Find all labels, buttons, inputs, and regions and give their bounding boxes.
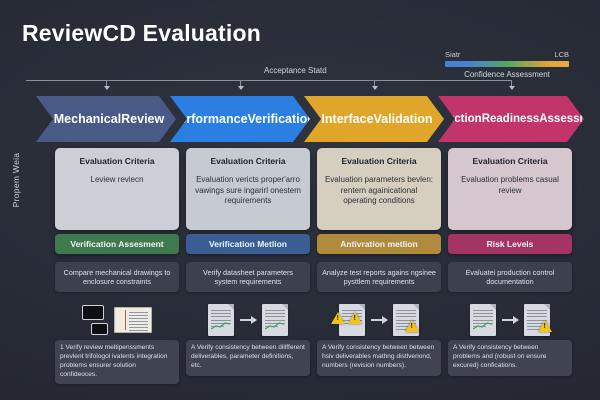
warning-triangle-icon xyxy=(331,312,345,324)
criteria-card-1-header: Evaluation Criteria xyxy=(62,156,172,166)
connector-tick-4 xyxy=(511,80,512,89)
stage-chevron-2-line2: Verification xyxy=(248,112,315,126)
arrow-right-icon xyxy=(502,319,518,321)
arrow-right-icon xyxy=(371,319,387,321)
connector-tick-2 xyxy=(240,80,241,89)
document-chart-icon xyxy=(262,304,288,336)
panel-1-icons xyxy=(55,298,179,342)
page-title: ReviewCD Evaluation xyxy=(22,20,261,47)
slide-canvas: ReviewCD Evaluation Propem Weia Siatr LC… xyxy=(0,0,600,400)
stage-chevron-1[interactable]: MechanicalReview xyxy=(36,96,176,142)
vertical-axis-label: Propem Weia xyxy=(11,150,21,210)
description-box-1: Compare mechanical drawings to enclosure… xyxy=(55,262,179,292)
connector-line xyxy=(26,80,511,81)
stage-chevron-2-line1: Performance xyxy=(171,112,247,126)
warning-triangle-icon xyxy=(405,320,419,332)
criteria-card-4[interactable]: Evaluation CriteriaEvaluation problems c… xyxy=(448,148,572,230)
confidence-legend: Siatr LCB Confidence Assessment xyxy=(445,50,569,79)
legend-gradient-bar xyxy=(445,61,569,67)
criteria-card-1-body: Leview reviecn xyxy=(62,175,172,186)
criteria-card-2[interactable]: Evaluation CriteriaEvaluation vericts pr… xyxy=(186,148,310,230)
description-box-3: Analyze test reports agains ngsinee pyst… xyxy=(317,262,441,292)
section-pill-4[interactable]: Risk Levels xyxy=(448,234,572,254)
illustration-panel-2: A Verify consistency between dillfferent… xyxy=(186,298,310,382)
criteria-card-3-body: Evaluation parameters bevlen: rentern ag… xyxy=(324,175,434,207)
legend-caption: Confidence Assessment xyxy=(445,70,569,79)
criteria-card-3-header: Evaluation Criteria xyxy=(324,156,434,166)
section-pill-3[interactable]: Antivration metlion xyxy=(317,234,441,254)
illustration-panel-4: A Verify consistency between problems an… xyxy=(448,298,572,382)
stage-chevron-3-line1: Interface xyxy=(321,112,373,126)
description-box-4: Evaluatei production control documentati… xyxy=(448,262,572,292)
warned-document-group xyxy=(393,304,419,336)
arrow-right-icon xyxy=(240,319,256,321)
document-icon xyxy=(470,304,496,336)
section-pill-2[interactable]: Verification Metlion xyxy=(186,234,310,254)
warning-triangle-icon xyxy=(538,320,552,332)
panel-2-icons xyxy=(186,298,310,342)
panel-4-icons xyxy=(448,298,572,342)
panel-4-caption: A Verify consistency between problems an… xyxy=(448,340,572,376)
criteria-card-1[interactable]: Evaluation CriteriaLeview reviecn xyxy=(55,148,179,230)
stage-chevron-2[interactable]: PerformanceVerification xyxy=(170,96,310,142)
connector-tick-1 xyxy=(106,80,107,89)
criteria-card-4-body: Evaluation problems casual review xyxy=(455,175,565,196)
stage-chevron-band: MechanicalReviewPerformanceVerificationI… xyxy=(36,96,584,142)
technical-drawing-icon xyxy=(114,307,152,333)
panel-2-caption: A Verify consistency between dillfferent… xyxy=(186,340,310,376)
legend-endpoints: Siatr LCB xyxy=(445,50,569,59)
stage-chevron-1-line1: Mechanical xyxy=(54,112,121,126)
monitor-icon xyxy=(82,305,104,320)
illustration-panel-1: 1 Verify review meltipenssments prevlent… xyxy=(55,298,179,382)
panel-3-caption: A Verify consistency between between hsi… xyxy=(317,340,441,376)
criteria-card-2-body: Evaluation vericts proper'arro vawings s… xyxy=(193,175,303,207)
connector-tick-3 xyxy=(374,80,375,89)
monitor-icon xyxy=(91,323,108,335)
warning-triangle-icon xyxy=(348,312,362,324)
panel-3-icons xyxy=(317,298,441,342)
legend-right-label: LCB xyxy=(554,50,569,59)
criteria-card-2-header: Evaluation Criteria xyxy=(193,156,303,166)
stage-chevron-4-line3: Assessment xyxy=(539,113,600,126)
criteria-card-4-header: Evaluation Criteria xyxy=(455,156,565,166)
monitor-group xyxy=(82,305,108,335)
panel-1-caption: 1 Verify review meltipenssments prevlent… xyxy=(55,340,179,384)
illustration-panel-3: A Verify consistency between between hsi… xyxy=(317,298,441,382)
criteria-card-3[interactable]: Evaluation CriteriaEvaluation parameters… xyxy=(317,148,441,230)
document-chart-icon xyxy=(208,304,234,336)
description-box-2: Verify datasheet parameters system requi… xyxy=(186,262,310,292)
stage-chevron-1-line2: Review xyxy=(121,112,164,126)
stage-chevron-4-line2: Readiness xyxy=(482,113,540,126)
warned-document-group xyxy=(339,304,365,336)
stage-chevron-4[interactable]: ProductionReadinessAssessment xyxy=(438,96,584,142)
warned-document-group xyxy=(524,304,550,336)
acceptance-standard-label: Acceptance Statd xyxy=(264,66,327,75)
stage-chevron-3-line2: Validation xyxy=(374,112,433,126)
legend-left-label: Siatr xyxy=(445,50,460,59)
stage-chevron-3[interactable]: InterfaceValidation xyxy=(304,96,444,142)
section-pill-1[interactable]: Verification Assesment xyxy=(55,234,179,254)
